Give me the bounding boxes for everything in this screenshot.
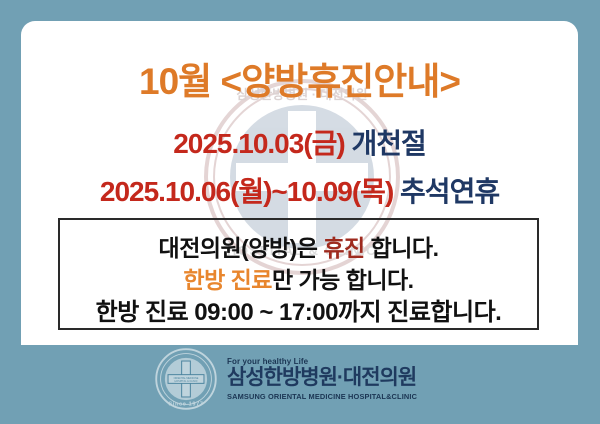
footer-text-block: For your healthy Life 삼성한방병원·대전의원 SAMSUN… — [227, 357, 417, 401]
holiday-notice-poster: HOSPITAL & CLINIC 삼성한방병원 · 대전의원 10월 <양방휴… — [0, 0, 600, 424]
notice-line-1-highlight: 휴진 — [323, 235, 364, 261]
footer-hospital-name-en: SAMSUNG ORIENTAL MEDICINE HOSPITAL&CLINI… — [227, 392, 417, 401]
notice-detail-box: 대전의원(양방)은 휴진 합니다. 한방 진료만 가능 합니다. 한방 진료 0… — [58, 218, 539, 330]
notice-line-2-highlight: 한방 진료 — [183, 267, 272, 293]
notice-line-available: 한방 진료만 가능 합니다. — [60, 261, 537, 295]
poster-title: 10월 <양방휴진안내> — [21, 51, 578, 105]
svg-text:HOSPITAL & CLINIC: HOSPITAL & CLINIC — [174, 380, 197, 383]
footer-branding: ORIENTAL MEDICINE HOSPITAL & CLINIC Sinc… — [155, 348, 417, 410]
holiday-name-2: 추석연휴 — [400, 176, 499, 207]
footer-hospital-name-ko: 삼성한방병원·대전의원 — [227, 367, 417, 389]
notice-line-closed: 대전의원(양방)은 휴진 합니다. — [60, 229, 537, 263]
notice-line-1-post: 합니다. — [365, 235, 439, 261]
poster-footer: ORIENTAL MEDICINE HOSPITAL & CLINIC Sinc… — [0, 345, 600, 424]
holiday-date-1: 2025.10.03(금) — [173, 128, 345, 159]
notice-card: HOSPITAL & CLINIC 삼성한방병원 · 대전의원 10월 <양방휴… — [21, 21, 578, 361]
holiday-date-line-1: 2025.10.03(금) 개천절 — [21, 122, 578, 162]
footer-tagline: For your healthy Life — [227, 357, 417, 366]
svg-text:Since 1977: Since 1977 — [168, 402, 203, 408]
holiday-date-2: 2025.10.06(월)~10.09(목) — [100, 176, 393, 207]
hospital-seal-icon: ORIENTAL MEDICINE HOSPITAL & CLINIC Sinc… — [155, 348, 217, 410]
notice-line-2-post: 만 가능 합니다. — [272, 267, 414, 293]
holiday-date-line-2: 2025.10.06(월)~10.09(목) 추석연휴 — [21, 170, 578, 210]
holiday-name-1: 개천절 — [352, 128, 426, 159]
notice-line-1-pre: 대전의원(양방)은 — [159, 235, 324, 261]
notice-line-hours: 한방 진료 09:00 ~ 17:00까지 진료합니다. — [60, 292, 537, 327]
